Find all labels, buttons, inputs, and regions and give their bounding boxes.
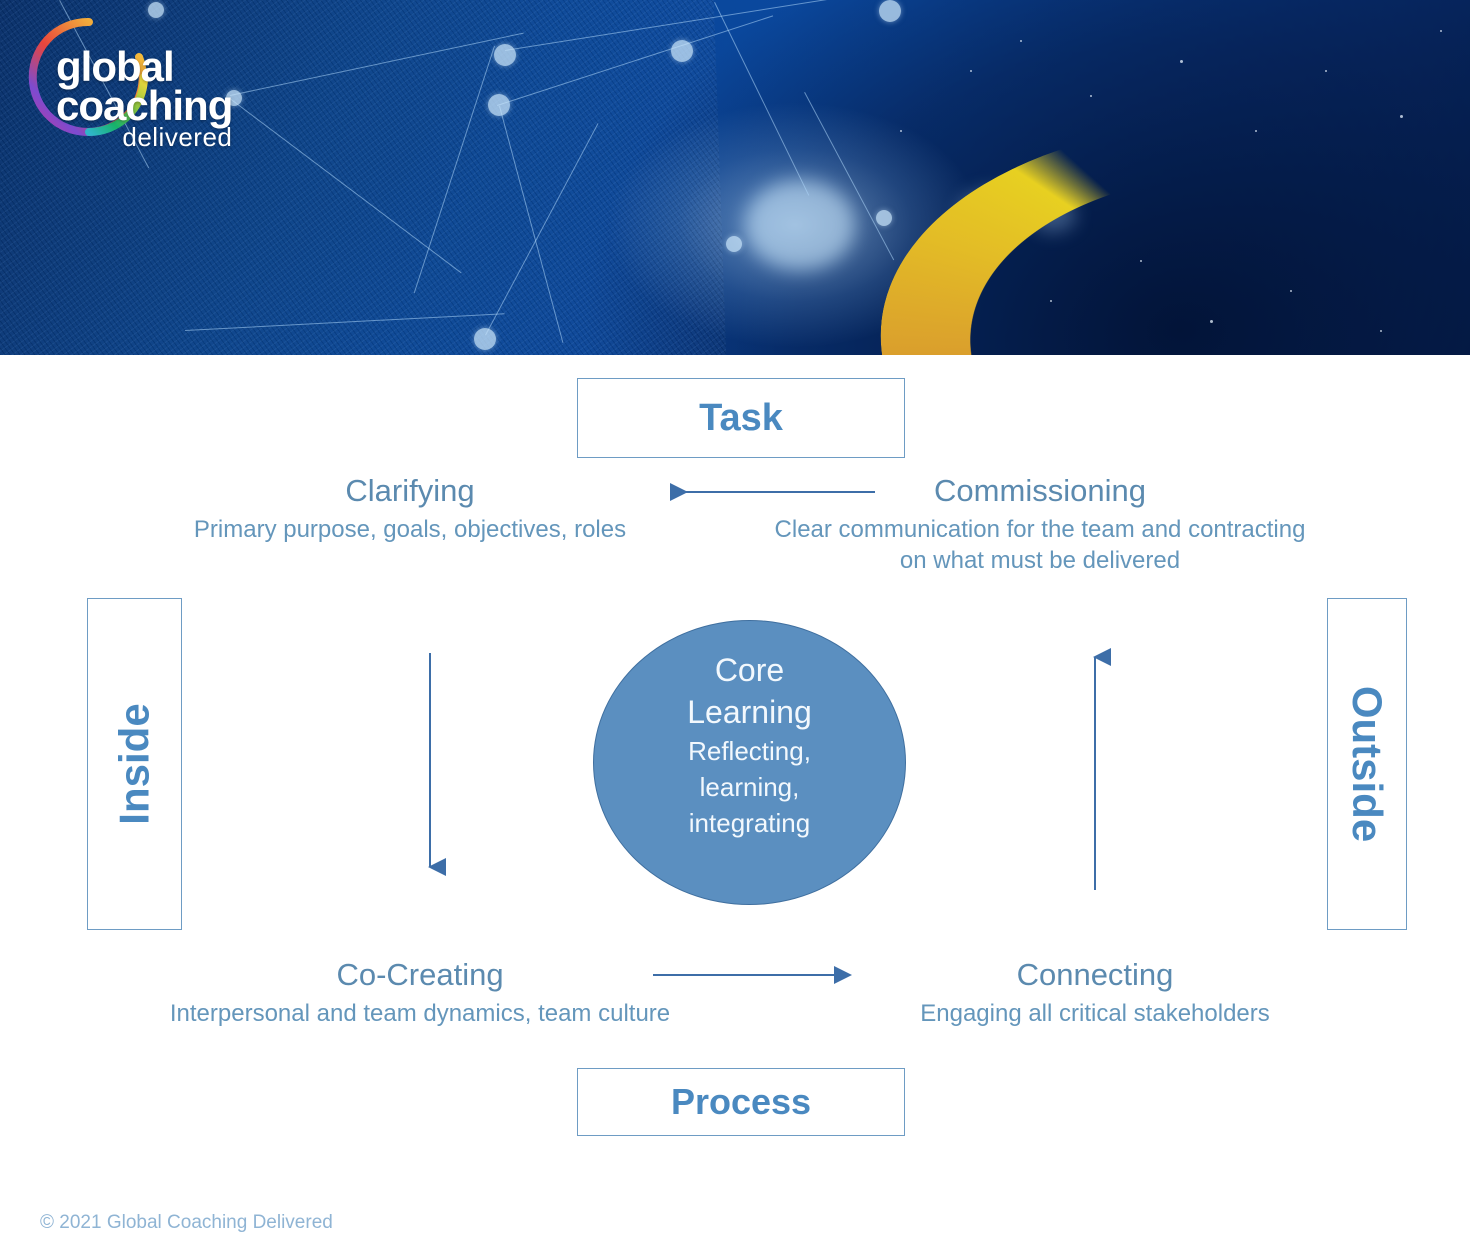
network-node <box>474 328 496 350</box>
network-line <box>714 2 809 196</box>
outside-label: Outside <box>1343 686 1391 842</box>
axis-label-outside[interactable]: Outside <box>1327 598 1407 930</box>
quadrant-co-creating[interactable]: Co-Creating Interpersonal and team dynam… <box>100 957 740 1029</box>
copyright-footer: © 2021 Global Coaching Delivered <box>40 1212 333 1234</box>
diagram-canvas: Task Process Inside Outside Clarifying P… <box>0 355 1470 1250</box>
network-node <box>488 94 510 116</box>
logo-wordmark: global coaching delivered <box>56 48 232 150</box>
network-node <box>671 40 693 62</box>
quadrant-description: Interpersonal and team dynamics, team cu… <box>100 998 740 1030</box>
core-title-line-1: Core <box>715 649 784 691</box>
lens-flare <box>745 180 855 270</box>
core-learning-circle[interactable]: Core Learning Reflecting, learning, inte… <box>593 620 906 905</box>
logo-line-3: delivered <box>56 126 232 150</box>
header-banner: global coaching delivered <box>0 0 1470 355</box>
star <box>1020 40 1022 42</box>
network-node <box>494 44 516 66</box>
quadrant-description: Primary purpose, goals, objectives, role… <box>130 514 690 546</box>
logo-line-2: coaching <box>56 87 232 126</box>
star <box>970 70 972 72</box>
quadrant-title: Commissioning <box>700 473 1380 509</box>
quadrant-description-line-1: Clear communication for the team and con… <box>700 514 1380 546</box>
axis-label-process[interactable]: Process <box>577 1068 905 1136</box>
task-label: Task <box>699 397 783 440</box>
process-label: Process <box>671 1081 811 1123</box>
core-title-line-2: Learning <box>687 691 812 733</box>
quadrant-title: Clarifying <box>130 473 690 509</box>
star <box>900 130 902 132</box>
star <box>1180 60 1183 63</box>
star <box>1440 30 1442 32</box>
star <box>1090 95 1092 97</box>
core-sub-line-1: Reflecting, <box>688 735 811 769</box>
star <box>1400 115 1403 118</box>
quadrant-title: Connecting <box>810 957 1380 993</box>
quadrant-connecting[interactable]: Connecting Engaging all critical stakeho… <box>810 957 1380 1029</box>
gold-swoosh <box>865 92 1470 355</box>
inside-label: Inside <box>111 703 159 824</box>
quadrant-title: Co-Creating <box>100 957 740 993</box>
quadrant-clarifying[interactable]: Clarifying Primary purpose, goals, objec… <box>130 473 690 545</box>
network-node <box>876 210 892 226</box>
axis-label-inside[interactable]: Inside <box>87 598 182 930</box>
brand-logo: global coaching delivered <box>18 8 288 148</box>
network-node <box>726 236 742 252</box>
quadrant-commissioning[interactable]: Commissioning Clear communication for th… <box>700 473 1380 577</box>
logo-line-1: global <box>56 48 232 87</box>
network-node <box>879 0 901 22</box>
star <box>1325 70 1327 72</box>
axis-label-task[interactable]: Task <box>577 378 905 458</box>
quadrant-description-line-2: on what must be delivered <box>700 545 1380 577</box>
core-sub-line-2: learning, <box>700 771 800 805</box>
core-sub-line-3: integrating <box>689 807 810 841</box>
quadrant-description: Engaging all critical stakeholders <box>810 998 1380 1030</box>
